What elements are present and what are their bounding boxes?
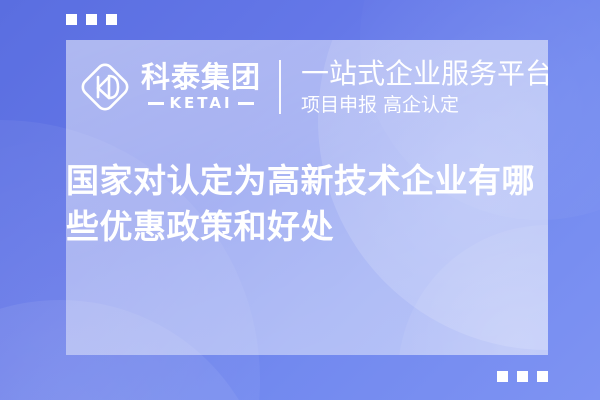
headline-text: 国家对认定为高新技术企业有哪些优惠政策和好处 — [66, 158, 536, 249]
square-dot-icon — [497, 371, 508, 382]
dots-decoration-bottom-right — [497, 371, 548, 382]
brand-name-en-row: KETAI — [148, 96, 253, 111]
brand-tagline: 一站式企业服务平台 项目申报 高企认定 — [301, 58, 548, 116]
rule-dash-icon — [238, 102, 254, 105]
square-dot-icon — [106, 14, 117, 25]
square-dot-icon — [517, 371, 528, 382]
promo-banner: 科泰集团 KETAI 一站式企业服务平台 项目申报 高企认定 国家对认定为高新技… — [0, 0, 600, 400]
content-card: 科泰集团 KETAI 一站式企业服务平台 项目申报 高企认定 国家对认定为高新技… — [66, 40, 548, 355]
brand-logo: 科泰集团 KETAI — [78, 60, 261, 114]
brand-header: 科泰集团 KETAI 一站式企业服务平台 项目申报 高企认定 — [78, 48, 538, 126]
tagline-sub: 项目申报 高企认定 — [301, 95, 548, 116]
brand-name-en: KETAI — [169, 96, 232, 111]
dots-decoration-top-left — [66, 14, 117, 25]
rule-dash-icon — [148, 102, 164, 105]
brand-logo-text: 科泰集团 KETAI — [141, 63, 261, 111]
square-dot-icon — [66, 14, 77, 25]
square-dot-icon — [537, 371, 548, 382]
brand-name-cn: 科泰集团 — [141, 63, 261, 92]
square-dot-icon — [86, 14, 97, 25]
vertical-divider — [279, 60, 281, 114]
tagline-main: 一站式企业服务平台 — [301, 58, 548, 89]
ketai-diamond-monogram-icon — [78, 60, 132, 114]
